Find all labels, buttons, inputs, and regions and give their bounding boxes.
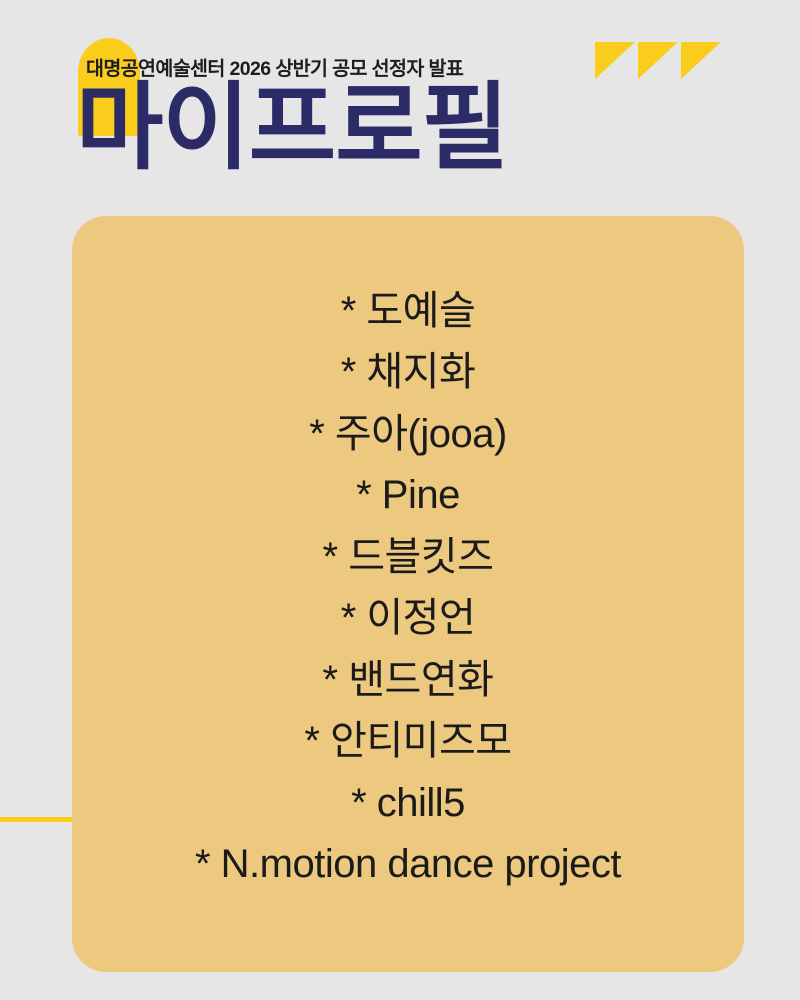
list-item: * 드블킷즈 [96,527,720,589]
poster-root: 대명공연예술센터 2026 상반기 공모 선정자 발표 마이프로필 * 도예슬 … [0,0,800,1000]
selected-name-list: * 도예슬 * 채지화 * 주아(jooa) * Pine * 드블킷즈 * 이… [96,281,720,896]
list-item: * 도예슬 [96,281,720,343]
page-title: 마이프로필 [76,78,508,178]
yellow-rule-divider [0,817,76,822]
list-item: * chill5 [96,773,720,835]
list-item: * N.motion dance project [96,834,720,896]
poster-header: 대명공연예술센터 2026 상반기 공모 선정자 발표 마이프로필 [0,0,800,200]
selected-list-card: * 도예슬 * 채지화 * 주아(jooa) * Pine * 드블킷즈 * 이… [72,216,744,972]
list-item: * 이정언 [96,588,720,650]
list-item: * 주아(jooa) [96,404,720,466]
list-item: * 안티미즈모 [96,711,720,773]
list-item: * Pine [96,465,720,527]
list-item: * 채지화 [96,342,720,404]
list-item: * 밴드연화 [96,650,720,712]
